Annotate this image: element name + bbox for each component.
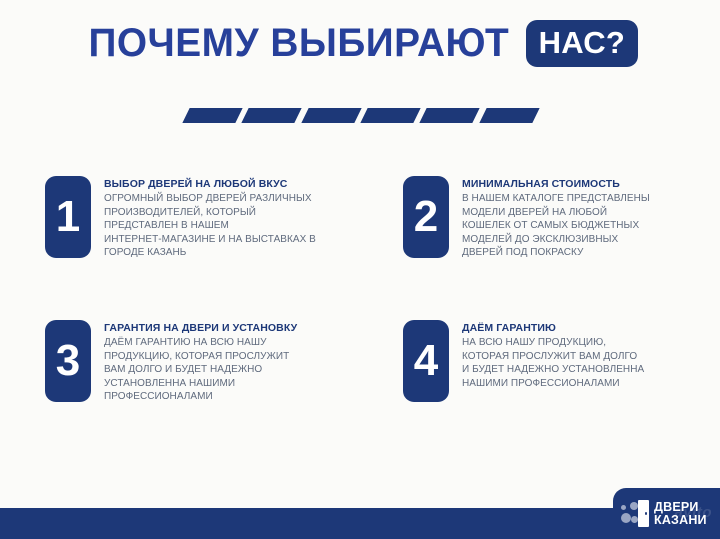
benefit-body-line: ПРОФЕССИОНАЛАМИ (104, 390, 297, 404)
benefit-body-line: В НАШЕМ КАТАЛОГЕ ПРЕДСТАВЛЕНЫ (462, 192, 650, 206)
benefit-body-line: ГОРОДЕ КАЗАНЬ (104, 246, 316, 260)
stripe-segment (301, 108, 362, 123)
benefit-item-3: 3 ГАРАНТИЯ НА ДВЕРИ И УСТАНОВКУ ДАЁМ ГАР… (0, 314, 360, 404)
door-shape (638, 500, 649, 527)
page-title: ПОЧЕМУ ВЫБИРАЮТ НАС? (0, 18, 720, 68)
logo-line-1: ДВЕРИ (654, 501, 707, 514)
stripe-segment (420, 108, 481, 123)
benefit-body-line: МОДЕЛЕЙ ДО ЭКСКЛЮЗИВНЫХ (462, 233, 650, 247)
benefit-number-badge-2: 2 (403, 176, 449, 258)
benefit-text-block-1: ВЫБОР ДВЕРЕЙ НА ЛЮБОЙ ВКУС ОГРОМНЫЙ ВЫБО… (104, 170, 316, 260)
benefit-body-line: ДАЁМ ГАРАНТИЮ НА ВСЮ НАШУ (104, 336, 297, 350)
footer-bar (0, 508, 720, 539)
benefit-body-4: НА ВСЮ НАШУ ПРОДУКЦИЮ, КОТОРАЯ ПРОСЛУЖИТ… (462, 336, 644, 390)
benefit-title-1: ВЫБОР ДВЕРЕЙ НА ЛЮБОЙ ВКУС (104, 178, 316, 191)
benefit-item-1: 1 ВЫБОР ДВЕРЕЙ НА ЛЮБОЙ ВКУС ОГРОМНЫЙ ВЫ… (0, 170, 360, 260)
benefit-body-line: ДВЕРЕЙ ПОД ПОКРАСКУ (462, 246, 650, 260)
benefit-title-4: ДАЁМ ГАРАНТИЮ (462, 322, 644, 335)
stripe-segment (182, 108, 243, 123)
benefit-text-block-4: ДАЁМ ГАРАНТИЮ НА ВСЮ НАШУ ПРОДУКЦИЮ, КОТ… (462, 314, 644, 390)
logo-dot (621, 513, 631, 523)
benefits-row-top: 1 ВЫБОР ДВЕРЕЙ НА ЛЮБОЙ ВКУС ОГРОМНЫЙ ВЫ… (0, 170, 720, 260)
benefit-number-badge-4: 4 (403, 320, 449, 402)
logo-dot (630, 502, 638, 510)
benefit-item-2: 2 МИНИМАЛЬНАЯ СТОИМОСТЬ В НАШЕМ КАТАЛОГЕ… (360, 170, 720, 260)
title-badge: НАС? (526, 20, 639, 67)
benefit-number-badge-3: 3 (45, 320, 91, 402)
benefit-body-line: КОТОРАЯ ПРОСЛУЖИТ ВАМ ДОЛГО (462, 350, 644, 364)
benefit-body-line: И БУДЕТ НАДЕЖНО УСТАНОВЛЕННА (462, 363, 644, 377)
benefit-body-line: ПРОДУКЦИЮ, КОТОРАЯ ПРОСЛУЖИТ (104, 350, 297, 364)
title-main-text: ПОЧЕМУ ВЫБИРАЮТ (88, 23, 509, 63)
stripe-segment (242, 108, 303, 123)
benefit-body-line: НА ВСЮ НАШУ ПРОДУКЦИЮ, (462, 336, 644, 350)
company-logo: ДВЕРИ КАЗАНИ (613, 488, 720, 539)
benefit-body-line: ПРОИЗВОДИТЕЛЕЙ, КОТОРЫЙ (104, 206, 316, 220)
benefit-body-line: ВАМ ДОЛГО И БУДЕТ НАДЕЖНО (104, 363, 297, 377)
benefit-body-line: НАШИМИ ПРОФЕССИОНАЛАМИ (462, 377, 644, 391)
benefit-body-line: ИНТЕРНЕТ-МАГАЗИНЕ И НА ВЫСТАВКАХ В (104, 233, 316, 247)
promo-poster: ПОЧЕМУ ВЫБИРАЮТ НАС? 1 ВЫБОР ДВЕРЕЙ НА Л… (0, 0, 720, 539)
benefit-text-block-3: ГАРАНТИЯ НА ДВЕРИ И УСТАНОВКУ ДАЁМ ГАРАН… (104, 314, 297, 404)
benefit-text-block-2: МИНИМАЛЬНАЯ СТОИМОСТЬ В НАШЕМ КАТАЛОГЕ П… (462, 170, 650, 260)
benefits-row-bottom: 3 ГАРАНТИЯ НА ДВЕРИ И УСТАНОВКУ ДАЁМ ГАР… (0, 314, 720, 404)
benefit-body-line: ПРЕДСТАВЛЕН В НАШЕМ (104, 219, 316, 233)
logo-dot (631, 516, 638, 523)
benefit-body-3: ДАЁМ ГАРАНТИЮ НА ВСЮ НАШУ ПРОДУКЦИЮ, КОТ… (104, 336, 297, 404)
logo-wordmark: ДВЕРИ КАЗАНИ (654, 501, 707, 527)
benefit-body-line: УСТАНОВЛЕННА НАШИМИ (104, 377, 297, 391)
benefit-body-line: КОШЕЛЕК ОТ САМЫХ БЮДЖЕТНЫХ (462, 219, 650, 233)
benefits-grid: 1 ВЫБОР ДВЕРЕЙ НА ЛЮБОЙ ВКУС ОГРОМНЫЙ ВЫ… (0, 170, 720, 404)
benefit-body-line: ОГРОМНЫЙ ВЫБОР ДВЕРЕЙ РАЗЛИЧНЫХ (104, 192, 316, 206)
benefit-title-3: ГАРАНТИЯ НА ДВЕРИ И УСТАНОВКУ (104, 322, 297, 335)
benefit-body-line: МОДЕЛИ ДВЕРЕЙ НА ЛЮБОЙ (462, 206, 650, 220)
slanted-stripes-divider (186, 108, 536, 124)
stripe-segment (360, 108, 421, 123)
benefit-body-1: ОГРОМНЫЙ ВЫБОР ДВЕРЕЙ РАЗЛИЧНЫХ ПРОИЗВОД… (104, 192, 316, 260)
benefit-title-2: МИНИМАЛЬНАЯ СТОИМОСТЬ (462, 178, 650, 191)
benefit-number-badge-1: 1 (45, 176, 91, 258)
stripe-segment (479, 108, 540, 123)
benefit-item-4: 4 ДАЁМ ГАРАНТИЮ НА ВСЮ НАШУ ПРОДУКЦИЮ, К… (360, 314, 720, 404)
logo-line-2: КАЗАНИ (654, 514, 707, 527)
logo-dot (621, 505, 626, 510)
door-icon (621, 499, 651, 529)
benefit-body-2: В НАШЕМ КАТАЛОГЕ ПРЕДСТАВЛЕНЫ МОДЕЛИ ДВЕ… (462, 192, 650, 260)
